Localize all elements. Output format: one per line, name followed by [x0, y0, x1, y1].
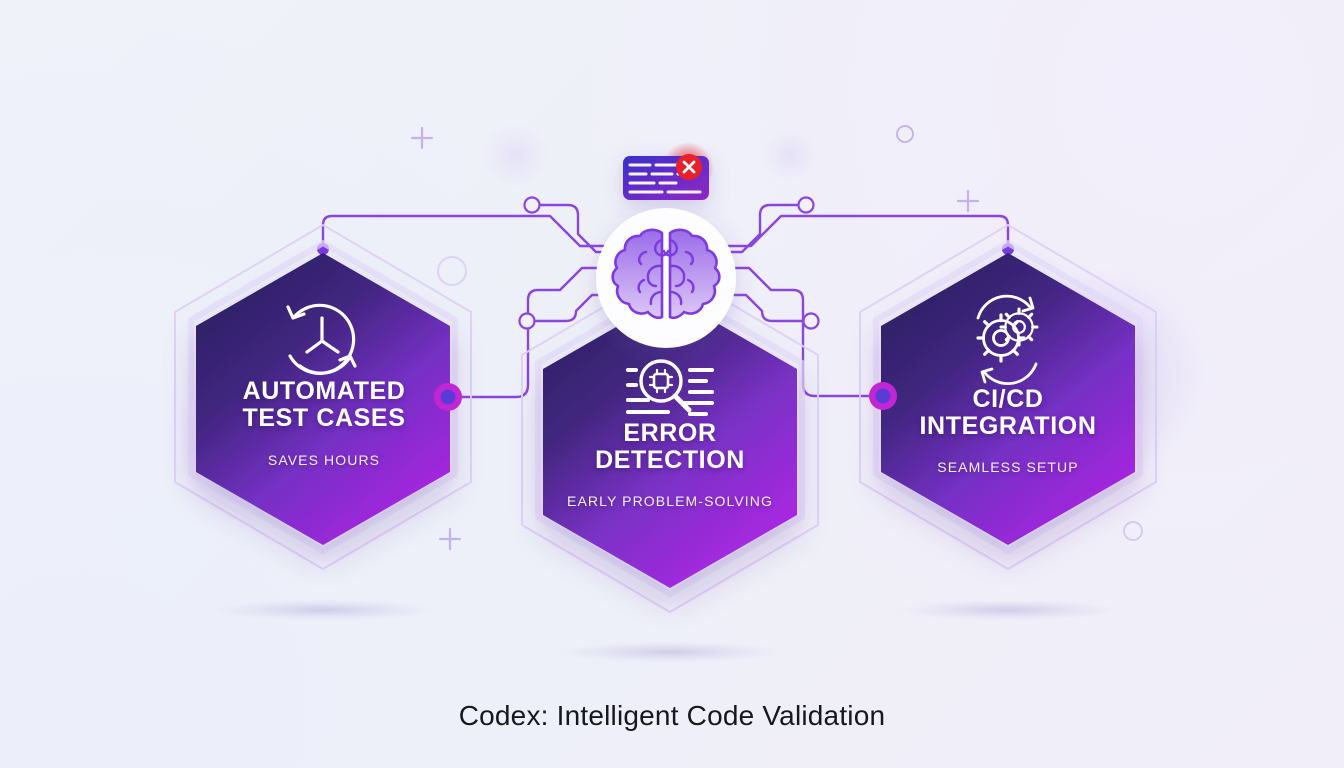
center-hub-layer	[0, 0, 1344, 768]
code-window-error-icon[interactable]	[623, 142, 714, 200]
node-right-connector[interactable]	[869, 382, 897, 410]
node-left-connector[interactable]	[434, 383, 462, 411]
infographic-canvas: AUTOMATED TEST CASES SAVES HOURS ERROR D…	[0, 0, 1344, 768]
page-caption: Codex: Intelligent Code Validation	[0, 700, 1344, 732]
